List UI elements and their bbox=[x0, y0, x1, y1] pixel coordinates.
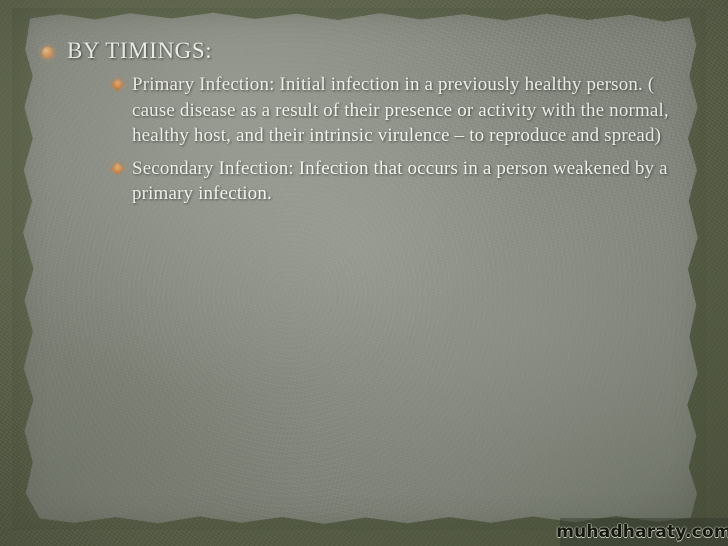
list-item-primary-infection: Primary Infection: Initial infection in … bbox=[111, 72, 701, 149]
bullet-list-level2: Primary Infection: Initial infection in … bbox=[111, 72, 701, 207]
slide-heading: BY TIMINGS: bbox=[67, 36, 698, 66]
slide-canvas: BY TIMINGS: Primary Infection: Initial i… bbox=[0, 0, 728, 546]
diamond-bullet-icon bbox=[111, 162, 124, 175]
slide-content: BY TIMINGS: Primary Infection: Initial i… bbox=[0, 0, 728, 546]
secondary-infection-text: Secondary Infection: Infection that occu… bbox=[132, 156, 701, 207]
bullet-list-level1: BY TIMINGS: Primary Infection: Initial i… bbox=[38, 36, 698, 214]
watermark-banner: muhadharaty.com bbox=[560, 518, 728, 546]
filled-circle-bullet-icon bbox=[42, 47, 53, 58]
watermark-text: muhadharaty.com bbox=[556, 522, 728, 542]
list-item-secondary-infection: Secondary Infection: Infection that occu… bbox=[111, 156, 701, 207]
primary-infection-text: Primary Infection: Initial infection in … bbox=[132, 72, 701, 149]
list-item-timings: BY TIMINGS: Primary Infection: Initial i… bbox=[38, 36, 698, 207]
diamond-bullet-icon bbox=[111, 78, 124, 91]
